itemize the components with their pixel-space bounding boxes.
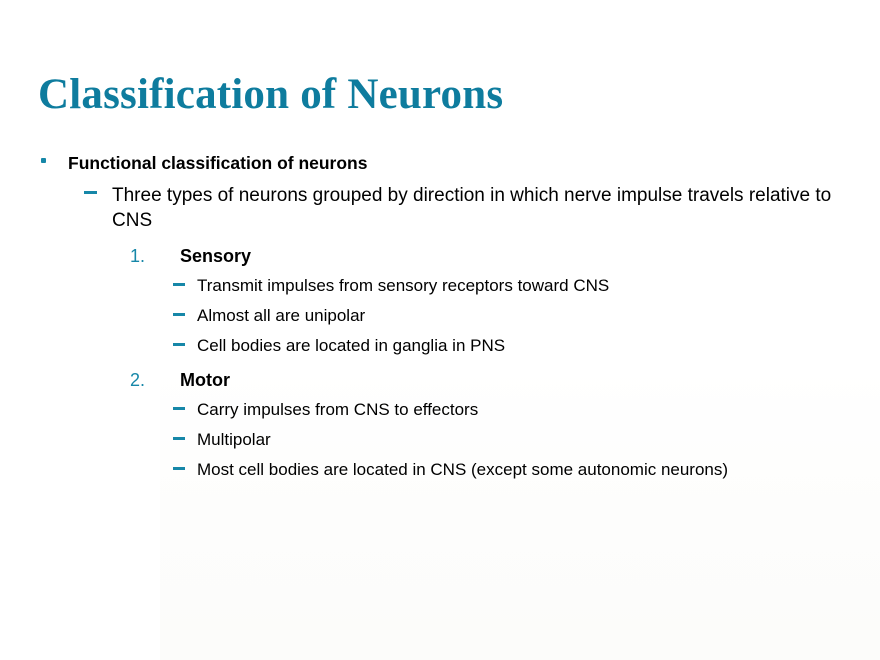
slide-title: Classification of Neurons [38,72,503,117]
dash-bullet-icon [173,407,185,410]
dash-bullet-icon [173,313,185,316]
outline-item-level4: Most cell bodies are located in CNS (exc… [0,459,880,481]
numbered-item-label: Motor [180,368,880,392]
dash-bullet-icon [173,467,185,470]
outline-item-level4: Multipolar [0,429,880,451]
dash-bullet-icon [173,437,185,440]
outline-item-level1: Functional classification of neurons [0,152,880,174]
outline-item-level4: Carry impulses from CNS to effectors [0,399,880,421]
square-bullet-icon [41,158,46,163]
numbered-item-sensory: 1. Sensory [0,244,880,268]
numbered-item-label: Sensory [180,244,880,268]
outline-item-level2: Three types of neurons grouped by direct… [0,183,880,233]
dash-bullet-icon [173,283,185,286]
outline-item-level4: Cell bodies are located in ganglia in PN… [0,335,880,357]
outline-level4-text: Carry impulses from CNS to effectors [197,399,840,421]
outline-level4-text: Multipolar [197,429,840,451]
list-number: 2. [130,368,145,392]
outline-level4-text: Transmit impulses from sensory receptors… [197,275,840,297]
list-number: 1. [130,244,145,268]
outline-level4-text: Cell bodies are located in ganglia in PN… [197,335,840,357]
slide-body: Functional classification of neurons Thr… [0,152,880,489]
dash-bullet-icon [84,191,97,194]
outline-item-level4: Transmit impulses from sensory receptors… [0,275,880,297]
outline-level4-text: Almost all are unipolar [197,305,840,327]
outline-level1-text: Functional classification of neurons [68,152,880,174]
presentation-slide: Classification of Neurons Functional cla… [0,0,880,660]
dash-bullet-icon [173,343,185,346]
outline-level4-text: Most cell bodies are located in CNS (exc… [197,459,840,481]
outline-item-level4: Almost all are unipolar [0,305,880,327]
numbered-item-motor: 2. Motor [0,368,880,392]
outline-level2-text: Three types of neurons grouped by direct… [112,183,834,233]
